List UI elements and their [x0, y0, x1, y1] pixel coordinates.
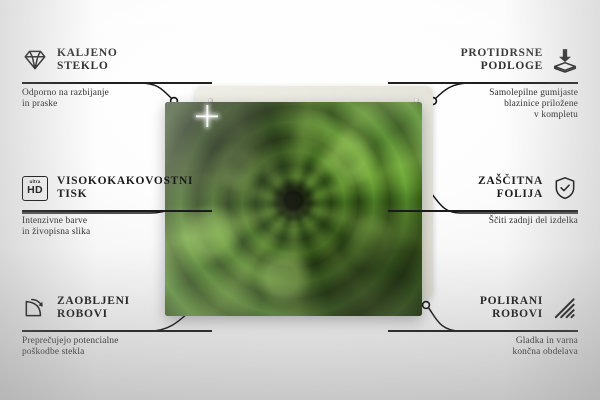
feature-sub-line1: Gladka in varna: [516, 336, 578, 346]
feature-title-line2: ROBOVI: [492, 308, 543, 320]
feature-title-line1: ZAŠČITNA: [478, 175, 543, 187]
feature-polirani-robovi: POLIRANI ROBOVI Gladka in varna končna o…: [388, 288, 578, 358]
feature-sub-line2: in živopisna slika: [22, 227, 90, 237]
feature-title-line1: VISOKOKAKOVOSTNI: [57, 175, 193, 187]
feature-kaljeno-steklo: KALJENO STEKLO Odporno na razbijanje in …: [22, 40, 212, 110]
feature-divider: [388, 330, 578, 332]
feature-sub-line1: Odporno na razbijanje: [22, 88, 109, 98]
feature-visokokakovostni-tisk: ultra HD VISOKOKAKOVOSTNI TISK Intenzivn…: [22, 168, 212, 238]
ultra-hd-icon: ultra HD: [22, 176, 48, 201]
feature-sub-line2: končna obdelava: [512, 347, 578, 357]
feature-divider: [388, 210, 578, 212]
feature-title-line1: KALJENO: [57, 47, 118, 59]
feature-sub-line2: poškodbe stekla: [22, 347, 84, 357]
feature-sub-line1: Intenzivne barve: [22, 216, 87, 226]
feature-sub-line2: in praske: [22, 99, 57, 109]
feature-divider: [22, 330, 212, 332]
ultra-hd-badge-bottom: HD: [27, 185, 43, 196]
anti-slip-pad-icon: [552, 47, 578, 73]
feature-zascitna-folija: ZAŠČITNA FOLIJA Ščiti zadnji del izdelka: [388, 168, 578, 227]
feature-title-line2: TISK: [57, 188, 87, 200]
feature-sub-line3: v kompletu: [534, 110, 578, 120]
shield-check-icon: [552, 175, 578, 201]
feature-title-line2: ROBOVI: [57, 308, 108, 320]
feature-sub-line1: Samolepilne gumijaste: [489, 88, 578, 98]
feature-divider: [388, 82, 578, 84]
diamond-icon: [22, 47, 48, 73]
feature-title-line2: FOLIJA: [497, 188, 543, 200]
rounded-corner-icon: [22, 295, 48, 321]
feature-zaobljeni-robovi: ZAOBLJENI ROBOVI Preprečujejo potencialn…: [22, 288, 212, 358]
polished-edge-icon: [552, 295, 578, 321]
feature-title-line1: ZAOBLJENI: [57, 295, 130, 307]
feature-sub-line2: blazinice priložene: [504, 99, 578, 109]
feature-divider: [22, 82, 212, 84]
feature-sub-line1: Preprečujejo potencialne: [22, 336, 119, 346]
feature-title-line2: STEKLO: [57, 60, 109, 72]
feature-divider: [22, 210, 212, 212]
feature-title-line1: POLIRANI: [480, 295, 543, 307]
feature-sub-line1: Ščiti zadnji del izdelka: [489, 216, 578, 226]
feature-title-line1: PROTIDRSNE: [461, 47, 543, 59]
infographic-canvas: KALJENO STEKLO Odporno na razbijanje in …: [0, 0, 600, 400]
feature-title-line2: PODLOGE: [481, 60, 543, 72]
feature-protidrsne-podloge: PROTIDRSNE PODLOGE Samolepilne gumijaste…: [388, 40, 578, 122]
